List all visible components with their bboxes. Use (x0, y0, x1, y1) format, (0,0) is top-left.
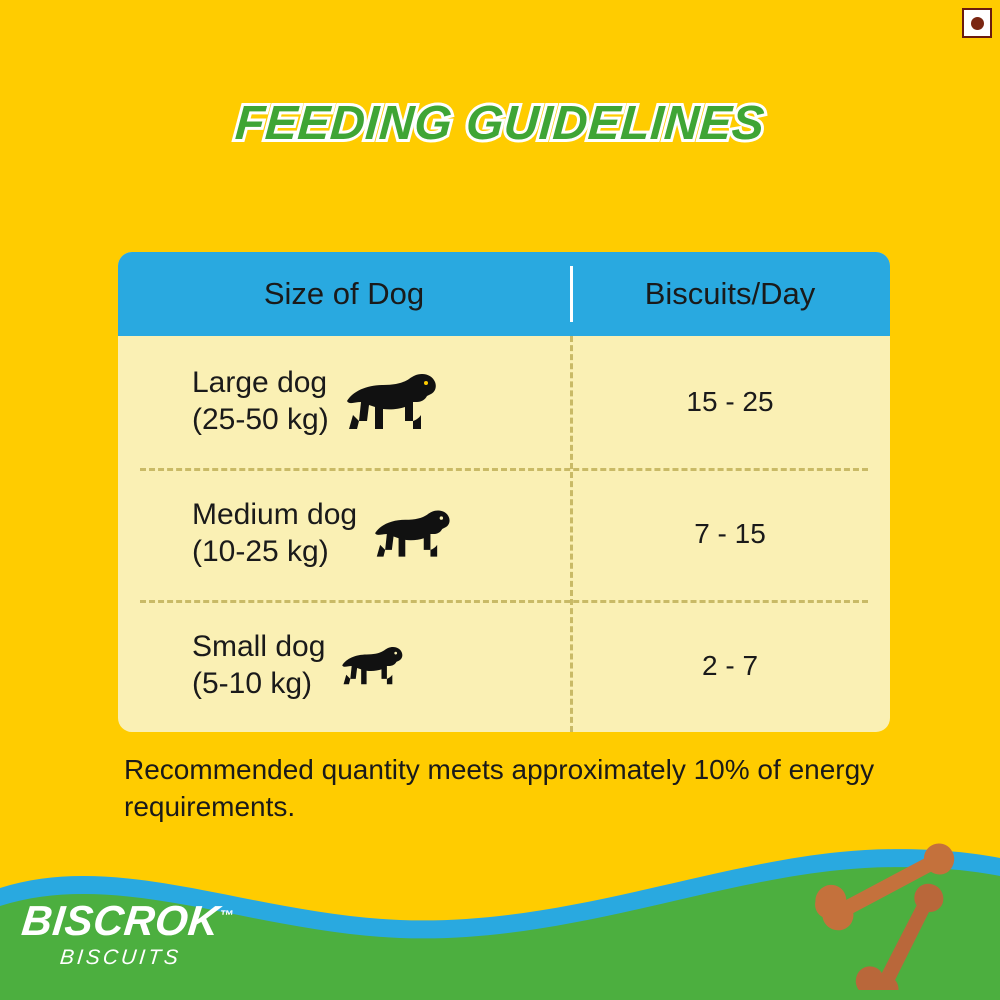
cell-size: Small dog (5-10 kg) (118, 629, 570, 702)
size-label: Small dog (5-10 kg) (192, 629, 325, 702)
dog-small-icon (339, 645, 405, 687)
size-label: Large dog (25-50 kg) (192, 365, 329, 438)
feeding-guidelines-table: Size of Dog Biscuits/Day Large dog (25-5… (118, 252, 890, 732)
table-row: Medium dog (10-25 kg) 7 - 15 (118, 468, 890, 600)
size-label: Medium dog (10-25 kg) (192, 497, 357, 570)
page-title: FEEDING GUIDELINES (0, 96, 1000, 151)
table-row: Large dog (25-50 kg) 15 - 25 (118, 336, 890, 468)
cell-biscuits: 15 - 25 (570, 386, 890, 418)
vegetarian-mark (962, 8, 992, 38)
cell-size: Large dog (25-50 kg) (118, 365, 570, 438)
table-header-row: Size of Dog Biscuits/Day (118, 252, 890, 336)
brand-logo: BISCROK™ BISCUITS (22, 900, 252, 986)
dog-medium-icon (371, 508, 453, 560)
cell-biscuits: 7 - 15 (570, 518, 890, 550)
brand-subtitle: BISCUITS (59, 946, 254, 970)
table-header-size-of-dog: Size of Dog (118, 276, 570, 312)
table-header-biscuits-per-day: Biscuits/Day (570, 276, 890, 312)
biscuit-bones-decoration (790, 810, 1000, 990)
cell-biscuits: 2 - 7 (570, 650, 890, 682)
header-divider (570, 266, 573, 322)
trademark-icon: ™ (219, 907, 235, 923)
table-row: Small dog (5-10 kg) 2 - 7 (118, 600, 890, 732)
cell-size: Medium dog (10-25 kg) (118, 497, 570, 570)
vegetarian-dot-icon (971, 17, 984, 30)
brand-name-text: BISCROK (20, 897, 222, 944)
brand-name: BISCROK™ (20, 900, 254, 942)
dog-large-icon (343, 371, 439, 433)
